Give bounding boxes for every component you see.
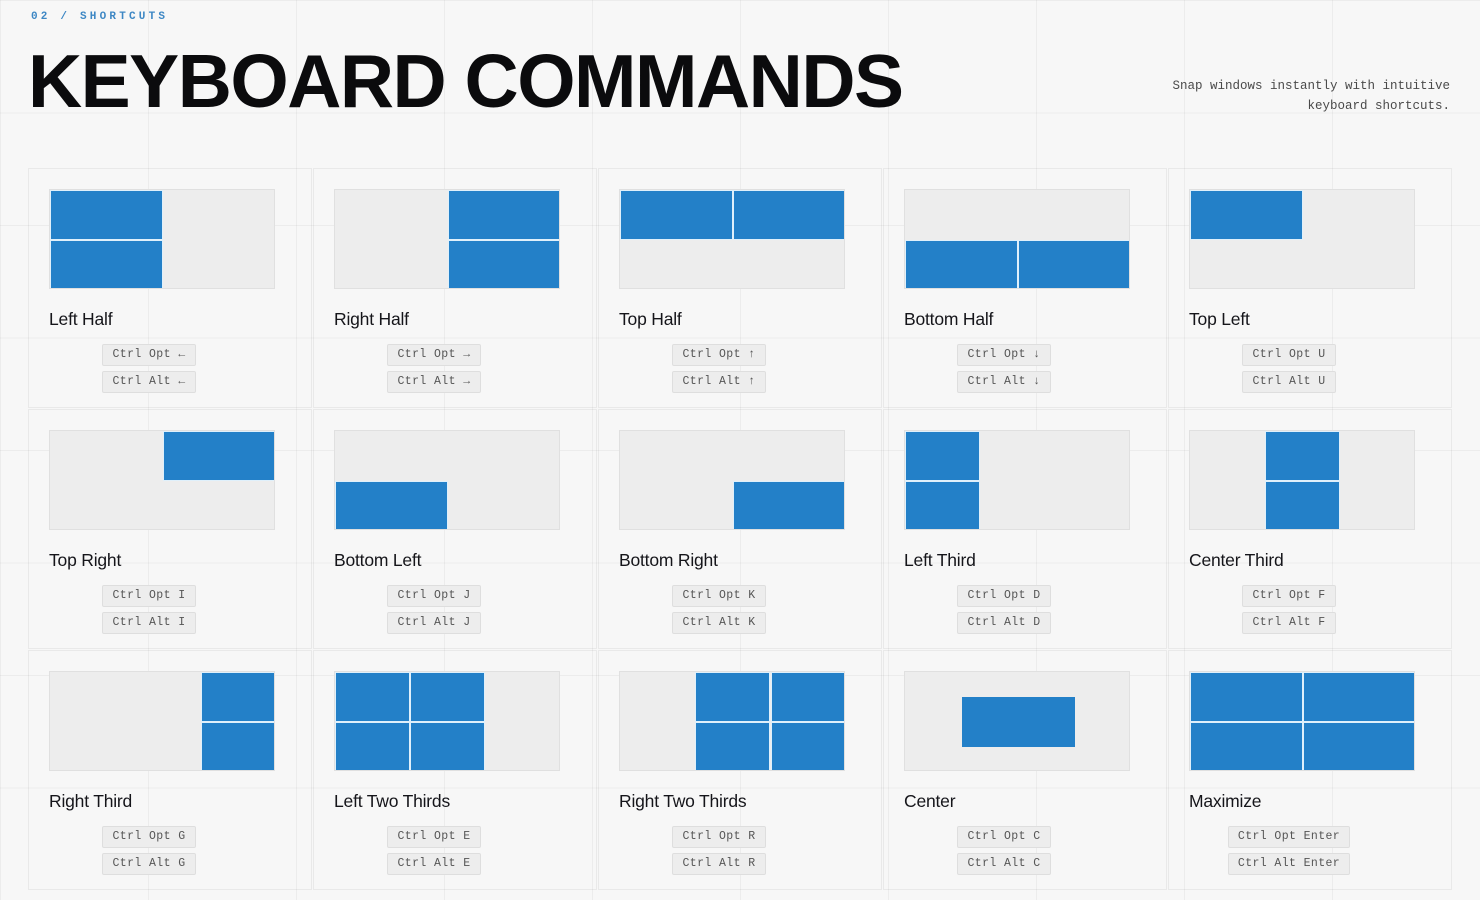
shortcut-key-badge[interactable]: Ctrl Opt D bbox=[957, 585, 1050, 607]
layout-preview bbox=[49, 430, 275, 530]
shortcut-key-badge[interactable]: Ctrl Opt J bbox=[387, 585, 480, 607]
shortcut-key-badge[interactable]: Ctrl Alt ← bbox=[102, 371, 195, 393]
layout-cell bbox=[50, 190, 163, 240]
shortcut-label: Right Half bbox=[334, 309, 576, 330]
shortcut-key-badge[interactable]: Ctrl Opt ↓ bbox=[957, 344, 1050, 366]
shortcut-key-badge[interactable]: Ctrl Opt U bbox=[1242, 344, 1335, 366]
shortcut-key-badge[interactable]: Ctrl Opt E bbox=[387, 826, 480, 848]
layout-cell bbox=[905, 481, 980, 530]
layout-preview bbox=[49, 671, 275, 771]
shortcut-card[interactable]: Center ThirdCtrl Opt FCtrl Alt F bbox=[1168, 409, 1452, 649]
page-subtitle: Snap windows instantly with intuitive ke… bbox=[1120, 76, 1450, 116]
shortcut-label: Top Half bbox=[619, 309, 861, 330]
shortcut-key-list: Ctrl Opt CCtrl Alt C bbox=[904, 826, 1104, 875]
shortcut-key-badge[interactable]: Ctrl Opt R bbox=[672, 826, 765, 848]
shortcut-label: Center Third bbox=[1189, 550, 1431, 571]
shortcut-key-badge[interactable]: Ctrl Alt Enter bbox=[1228, 853, 1350, 875]
shortcut-card[interactable]: CenterCtrl Opt CCtrl Alt C bbox=[883, 650, 1167, 890]
layout-preview bbox=[334, 189, 560, 289]
layout-cell bbox=[448, 190, 560, 240]
layout-cell bbox=[448, 240, 560, 289]
shortcut-label: Maximize bbox=[1189, 791, 1431, 812]
layout-cell bbox=[1190, 190, 1303, 240]
layout-cell bbox=[335, 722, 410, 771]
shortcut-key-list: Ctrl Opt RCtrl Alt R bbox=[619, 826, 819, 875]
shortcut-key-badge[interactable]: Ctrl Alt ↑ bbox=[672, 371, 765, 393]
shortcut-key-badge[interactable]: Ctrl Opt ← bbox=[102, 344, 195, 366]
layout-cell bbox=[620, 190, 733, 240]
shortcut-key-list: Ctrl Opt ←Ctrl Alt ← bbox=[49, 344, 249, 393]
shortcut-key-badge[interactable]: Ctrl Alt I bbox=[102, 612, 195, 634]
layout-cell bbox=[1265, 481, 1340, 530]
shortcut-label: Right Third bbox=[49, 791, 291, 812]
shortcut-key-list: Ctrl Opt ECtrl Alt E bbox=[334, 826, 534, 875]
shortcut-key-badge[interactable]: Ctrl Opt ↑ bbox=[672, 344, 765, 366]
layout-cell bbox=[1190, 672, 1303, 722]
shortcut-key-list: Ctrl Opt ↑Ctrl Alt ↑ bbox=[619, 344, 819, 393]
layout-cell bbox=[695, 722, 770, 771]
shortcut-card[interactable]: Right ThirdCtrl Opt GCtrl Alt G bbox=[28, 650, 312, 890]
layout-cell bbox=[962, 697, 1075, 747]
slide-root: 02 / SHORTCUTS KEYBOARD COMMANDS Snap wi… bbox=[0, 0, 1480, 900]
shortcut-key-list: Ctrl Opt ICtrl Alt I bbox=[49, 585, 249, 634]
shortcut-key-badge[interactable]: Ctrl Opt G bbox=[102, 826, 195, 848]
shortcut-card[interactable]: Bottom LeftCtrl Opt JCtrl Alt J bbox=[313, 409, 597, 649]
shortcut-card-grid: Left HalfCtrl Opt ←Ctrl Alt ←Right HalfC… bbox=[28, 168, 1452, 890]
shortcut-label: Center bbox=[904, 791, 1146, 812]
shortcut-label: Right Two Thirds bbox=[619, 791, 861, 812]
shortcut-label: Bottom Right bbox=[619, 550, 861, 571]
shortcut-label: Top Left bbox=[1189, 309, 1431, 330]
layout-preview bbox=[619, 430, 845, 530]
shortcut-key-badge[interactable]: Ctrl Alt D bbox=[957, 612, 1050, 634]
layout-cell bbox=[905, 431, 980, 481]
shortcut-card[interactable]: Bottom HalfCtrl Opt ↓Ctrl Alt ↓ bbox=[883, 168, 1167, 408]
layout-cell bbox=[1190, 722, 1303, 771]
shortcut-key-list: Ctrl Opt DCtrl Alt D bbox=[904, 585, 1104, 634]
shortcut-key-badge[interactable]: Ctrl Alt U bbox=[1242, 371, 1335, 393]
layout-cell bbox=[1303, 672, 1415, 722]
shortcut-key-badge[interactable]: Ctrl Opt F bbox=[1242, 585, 1335, 607]
layout-cell bbox=[1303, 722, 1415, 771]
layout-cell bbox=[201, 672, 275, 722]
layout-cell bbox=[410, 722, 485, 771]
layout-preview bbox=[1189, 189, 1415, 289]
layout-preview bbox=[619, 671, 845, 771]
shortcut-key-badge[interactable]: Ctrl Opt Enter bbox=[1228, 826, 1350, 848]
shortcut-key-badge[interactable]: Ctrl Alt → bbox=[387, 371, 480, 393]
shortcut-card[interactable]: Right HalfCtrl Opt →Ctrl Alt → bbox=[313, 168, 597, 408]
shortcut-key-badge[interactable]: Ctrl Alt F bbox=[1242, 612, 1335, 634]
shortcut-key-list: Ctrl Opt UCtrl Alt U bbox=[1189, 344, 1389, 393]
layout-preview bbox=[1189, 430, 1415, 530]
layout-preview bbox=[904, 189, 1130, 289]
layout-preview bbox=[49, 189, 275, 289]
layout-cell bbox=[1265, 431, 1340, 481]
layout-cell bbox=[50, 240, 163, 289]
layout-preview bbox=[904, 430, 1130, 530]
shortcut-card[interactable]: Top LeftCtrl Opt UCtrl Alt U bbox=[1168, 168, 1452, 408]
layout-cell bbox=[733, 190, 845, 240]
shortcut-key-badge[interactable]: Ctrl Alt C bbox=[957, 853, 1050, 875]
shortcut-label: Top Right bbox=[49, 550, 291, 571]
shortcut-key-badge[interactable]: Ctrl Opt I bbox=[102, 585, 195, 607]
shortcut-card[interactable]: Left HalfCtrl Opt ←Ctrl Alt ← bbox=[28, 168, 312, 408]
layout-cell bbox=[733, 481, 845, 530]
shortcut-label: Left Two Thirds bbox=[334, 791, 576, 812]
shortcut-key-list: Ctrl Opt EnterCtrl Alt Enter bbox=[1189, 826, 1389, 875]
shortcut-card[interactable]: Top RightCtrl Opt ICtrl Alt I bbox=[28, 409, 312, 649]
layout-preview bbox=[904, 671, 1130, 771]
shortcut-key-badge[interactable]: Ctrl Opt K bbox=[672, 585, 765, 607]
layout-cell bbox=[695, 672, 770, 722]
layout-preview bbox=[334, 671, 560, 771]
shortcut-key-badge[interactable]: Ctrl Opt C bbox=[957, 826, 1050, 848]
shortcut-label: Bottom Left bbox=[334, 550, 576, 571]
shortcut-card[interactable]: Top HalfCtrl Opt ↑Ctrl Alt ↑ bbox=[598, 168, 882, 408]
shortcut-card[interactable]: Right Two ThirdsCtrl Opt RCtrl Alt R bbox=[598, 650, 882, 890]
shortcut-key-list: Ctrl Opt GCtrl Alt G bbox=[49, 826, 249, 875]
layout-cell bbox=[335, 672, 410, 722]
shortcut-key-badge[interactable]: Ctrl Alt G bbox=[102, 853, 195, 875]
shortcut-key-badge[interactable]: Ctrl Alt ↓ bbox=[957, 371, 1050, 393]
layout-cell bbox=[410, 672, 485, 722]
section-eyebrow: 02 / SHORTCUTS bbox=[31, 11, 168, 23]
shortcut-key-badge[interactable]: Ctrl Alt J bbox=[387, 612, 480, 634]
layout-cell bbox=[905, 240, 1018, 289]
shortcut-card[interactable]: MaximizeCtrl Opt EnterCtrl Alt Enter bbox=[1168, 650, 1452, 890]
shortcut-label: Bottom Half bbox=[904, 309, 1146, 330]
layout-cell bbox=[771, 722, 845, 771]
layout-cell bbox=[335, 481, 448, 530]
layout-preview bbox=[334, 430, 560, 530]
shortcut-key-badge[interactable]: Ctrl Alt K bbox=[672, 612, 765, 634]
shortcut-card[interactable]: Left ThirdCtrl Opt DCtrl Alt D bbox=[883, 409, 1167, 649]
shortcut-key-list: Ctrl Opt →Ctrl Alt → bbox=[334, 344, 534, 393]
shortcut-key-badge[interactable]: Ctrl Alt E bbox=[387, 853, 480, 875]
layout-preview bbox=[619, 189, 845, 289]
layout-preview bbox=[1189, 671, 1415, 771]
shortcut-key-list: Ctrl Opt FCtrl Alt F bbox=[1189, 585, 1389, 634]
layout-cell bbox=[771, 672, 845, 722]
layout-cell bbox=[1018, 240, 1130, 289]
shortcut-key-badge[interactable]: Ctrl Opt → bbox=[387, 344, 480, 366]
shortcut-card[interactable]: Left Two ThirdsCtrl Opt ECtrl Alt E bbox=[313, 650, 597, 890]
shortcut-label: Left Half bbox=[49, 309, 291, 330]
shortcut-key-list: Ctrl Opt JCtrl Alt J bbox=[334, 585, 534, 634]
shortcut-card[interactable]: Bottom RightCtrl Opt KCtrl Alt K bbox=[598, 409, 882, 649]
layout-cell bbox=[163, 431, 275, 481]
shortcut-key-list: Ctrl Opt KCtrl Alt K bbox=[619, 585, 819, 634]
shortcut-key-badge[interactable]: Ctrl Alt R bbox=[672, 853, 765, 875]
shortcut-label: Left Third bbox=[904, 550, 1146, 571]
shortcut-key-list: Ctrl Opt ↓Ctrl Alt ↓ bbox=[904, 344, 1104, 393]
page-title: KEYBOARD COMMANDS bbox=[28, 41, 903, 121]
layout-cell bbox=[201, 722, 275, 771]
